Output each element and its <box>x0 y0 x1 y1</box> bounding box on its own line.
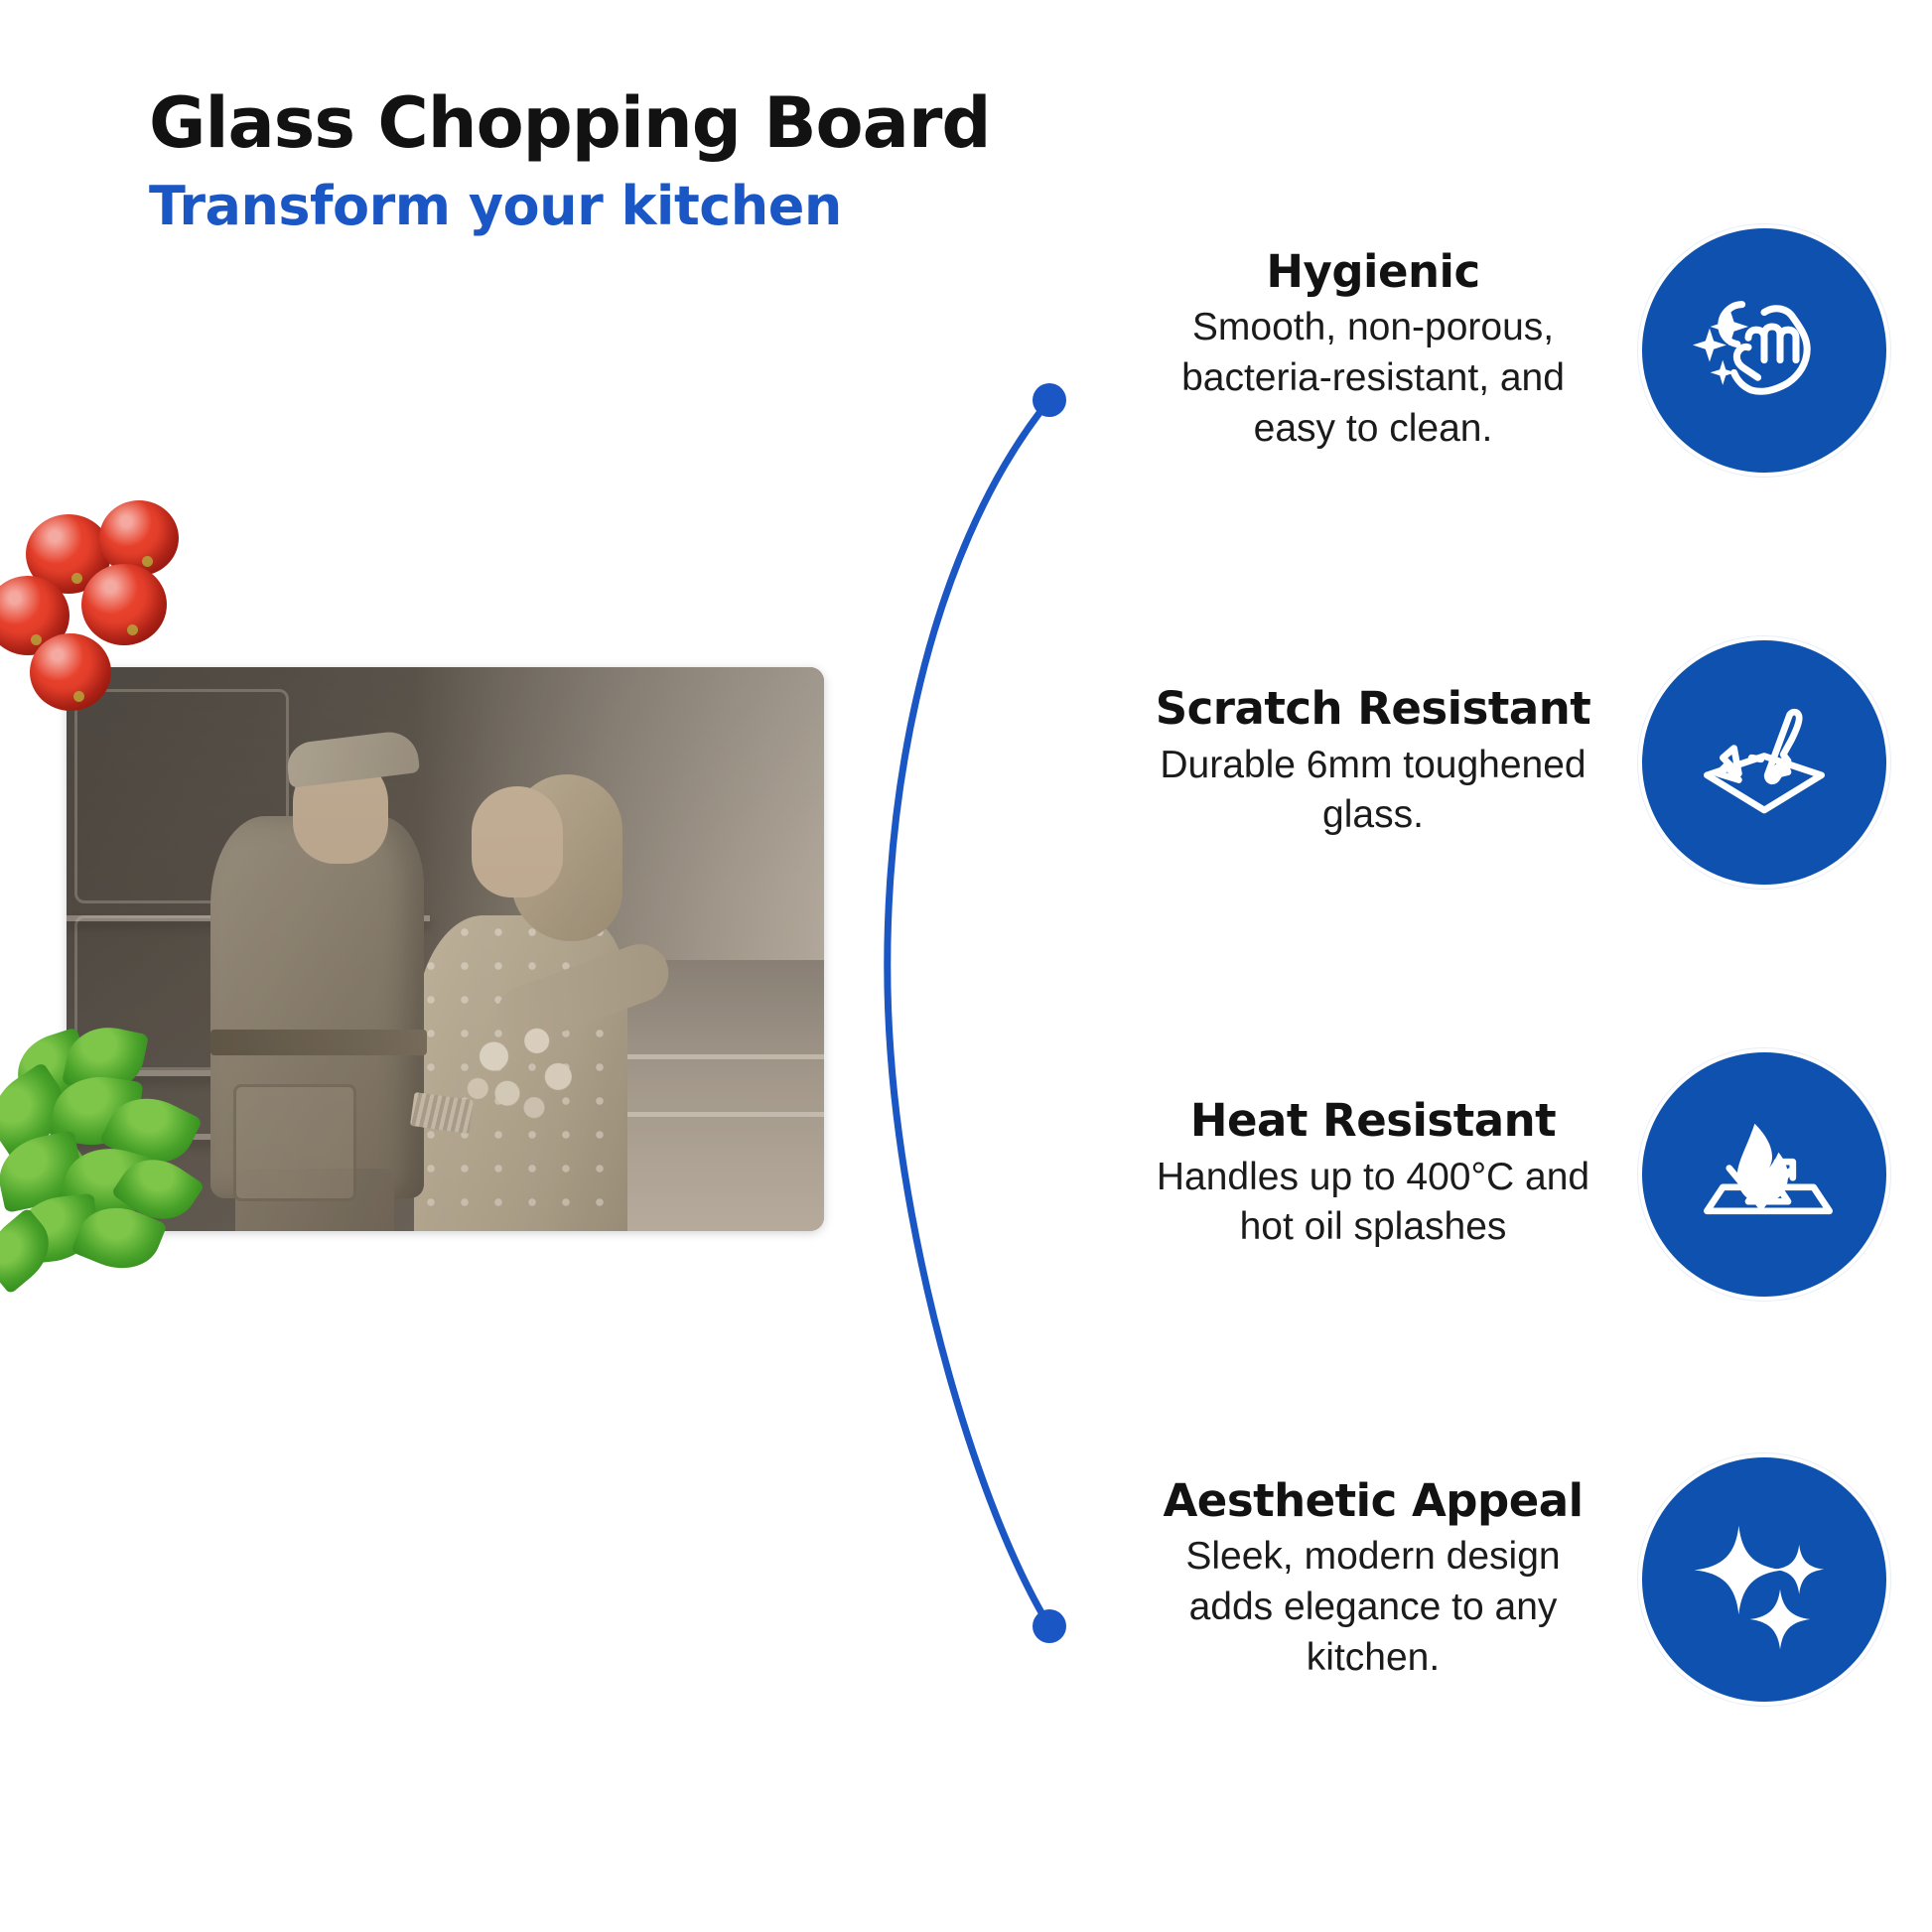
tomato-decoration <box>81 564 167 645</box>
page-subtitle: Transform your kitchen <box>149 177 991 235</box>
tomato-decoration <box>99 500 179 576</box>
feature-description: Handles up to 400°C and hot oil splashes <box>1140 1153 1606 1253</box>
hand-wiping-sparkle-icon <box>1642 228 1886 473</box>
feature-text-block: Heat Resistant Handles up to 400°C and h… <box>1140 1096 1606 1253</box>
feature-title: Scratch Resistant <box>1140 684 1606 734</box>
feature-title: Hygienic <box>1140 247 1606 297</box>
feature-text-block: Aesthetic Appeal Sleek, modern design ad… <box>1140 1476 1606 1683</box>
flame-deflect-icon <box>1642 1052 1886 1297</box>
feature-hygienic: Hygienic Smooth, non-porous, bacteria-re… <box>1062 228 1886 473</box>
connector-dot-bottom <box>1033 1609 1066 1643</box>
feature-scratch-resistant: Scratch Resistant Durable 6mm toughened … <box>1062 640 1886 885</box>
infographic-canvas: Glass Chopping Board Transform your kitc… <box>0 0 1932 1932</box>
feature-text-block: Hygienic Smooth, non-porous, bacteria-re… <box>1140 247 1606 454</box>
feature-text-block: Scratch Resistant Durable 6mm toughened … <box>1140 684 1606 841</box>
connector-dot-top <box>1033 383 1066 417</box>
feature-aesthetic-appeal: Aesthetic Appeal Sleek, modern design ad… <box>1062 1457 1886 1702</box>
sparkles-icon <box>1642 1457 1886 1702</box>
feature-description: Sleek, modern design adds elegance to an… <box>1140 1532 1606 1683</box>
knife-on-board-icon <box>1642 640 1886 885</box>
feature-description: Smooth, non-porous, bacteria-resistant, … <box>1140 303 1606 454</box>
connector-path <box>888 400 1049 1626</box>
feature-title: Heat Resistant <box>1140 1096 1606 1146</box>
header: Glass Chopping Board Transform your kitc… <box>149 87 991 235</box>
feature-description: Durable 6mm toughened glass. <box>1140 741 1606 841</box>
feature-heat-resistant: Heat Resistant Handles up to 400°C and h… <box>1062 1052 1886 1297</box>
feature-title: Aesthetic Appeal <box>1140 1476 1606 1526</box>
parsley-decoration <box>0 1021 210 1289</box>
tomato-decoration <box>30 633 111 711</box>
page-title: Glass Chopping Board <box>149 87 991 161</box>
